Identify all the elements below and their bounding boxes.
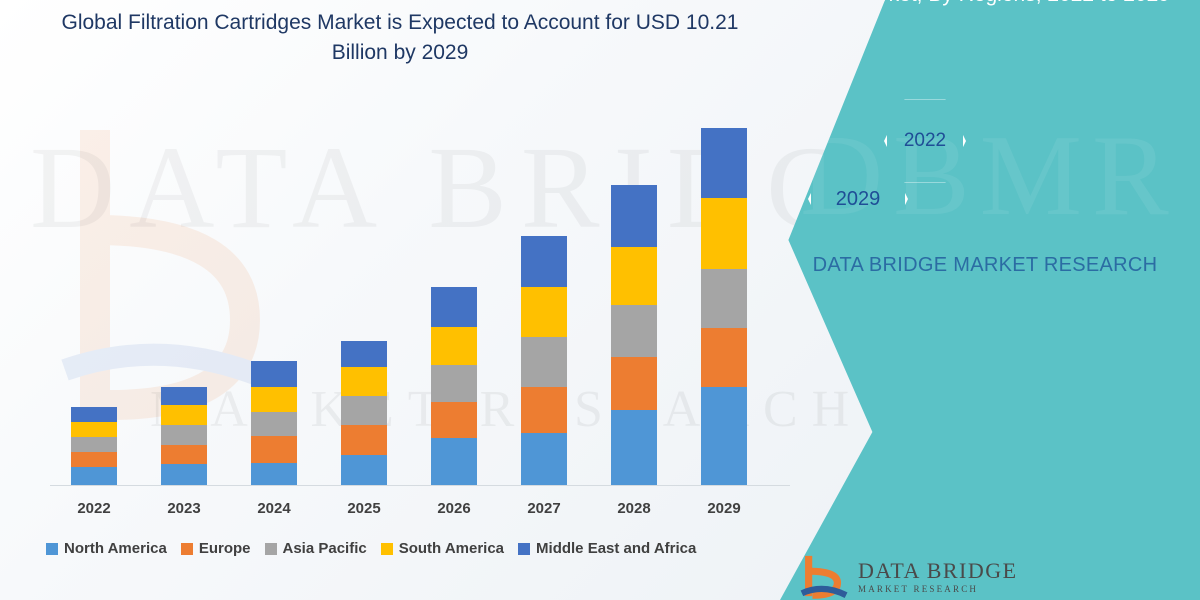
bar-segment-middle-east-and-africa-2026: [431, 287, 477, 327]
x-tick-2022: 2022: [49, 500, 139, 517]
bar-segment-north-america-2028: [611, 410, 657, 485]
bar-segment-europe-2022: [71, 452, 117, 467]
chart-legend: North AmericaEuropeAsia PacificSouth Ame…: [46, 540, 696, 557]
x-tick-2023: 2023: [139, 500, 229, 517]
legend-swatch-icon: [46, 543, 58, 555]
x-tick-2029: 2029: [679, 500, 769, 517]
bar-segment-middle-east-and-africa-2024: [251, 361, 297, 387]
bar-segment-south-america-2028: [611, 247, 657, 305]
bar-2024: [251, 361, 297, 485]
bar-segment-asia-pacific-2023: [161, 425, 207, 445]
legend-item[interactable]: Europe: [181, 540, 251, 557]
bar-segment-middle-east-and-africa-2027: [521, 236, 567, 287]
legend-swatch-icon: [265, 543, 277, 555]
bar-2029: [701, 128, 747, 485]
bar-segment-north-america-2029: [701, 387, 747, 485]
bar-segment-europe-2028: [611, 357, 657, 410]
data-bridge-logo-icon: [800, 552, 848, 600]
bar-segment-south-america-2027: [521, 287, 567, 337]
x-tick-2027: 2027: [499, 500, 589, 517]
bar-segment-south-america-2025: [341, 367, 387, 396]
bar-segment-europe-2023: [161, 445, 207, 465]
logo-wordmark: DATA BRIDGE MARKET RESEARCH: [858, 558, 1018, 594]
legend-swatch-icon: [518, 543, 530, 555]
legend-label: South America: [399, 540, 504, 557]
hexagon-badge-base-year: 2022: [884, 97, 966, 185]
legend-item[interactable]: North America: [46, 540, 167, 557]
chart-panel: DATA BRIDGE MARKET RESEARCH Global Filtr…: [0, 0, 900, 600]
bar-segment-middle-east-and-africa-2025: [341, 341, 387, 367]
bar-segment-asia-pacific-2029: [701, 269, 747, 328]
x-tick-2028: 2028: [589, 500, 679, 517]
bar-segment-south-america-2026: [431, 327, 477, 365]
bar-segment-asia-pacific-2024: [251, 412, 297, 436]
bar-2026: [431, 287, 477, 485]
bar-2025: [341, 341, 387, 485]
bar-segment-asia-pacific-2026: [431, 365, 477, 402]
bar-segment-south-america-2023: [161, 405, 207, 425]
brand-name: DATA BRIDGE MARKET RESEARCH: [800, 250, 1170, 280]
bar-segment-south-america-2022: [71, 422, 117, 437]
legend-item[interactable]: Middle East and Africa: [518, 540, 696, 557]
bar-segment-asia-pacific-2028: [611, 305, 657, 357]
bar-2027: [521, 236, 567, 485]
hexagon-badge-end-year: 2029: [808, 145, 908, 253]
bar-segment-north-america-2026: [431, 438, 477, 485]
legend-label: Middle East and Africa: [536, 540, 696, 557]
bar-segment-north-america-2027: [521, 433, 567, 485]
bar-segment-north-america-2023: [161, 464, 207, 485]
legend-swatch-icon: [381, 543, 393, 555]
bar-segment-north-america-2024: [251, 463, 297, 485]
bar-segment-europe-2029: [701, 328, 747, 387]
bar-segment-middle-east-and-africa-2022: [71, 407, 117, 422]
bar-segment-middle-east-and-africa-2023: [161, 387, 207, 405]
axis-baseline: [50, 485, 790, 486]
bar-segment-north-america-2025: [341, 455, 387, 485]
bar-segment-asia-pacific-2027: [521, 337, 567, 387]
bar-segment-europe-2026: [431, 402, 477, 438]
x-tick-2024: 2024: [229, 500, 319, 517]
footer-logo: DATA BRIDGE MARKET RESEARCH: [800, 552, 1018, 600]
bar-2023: [161, 387, 207, 485]
bar-segment-asia-pacific-2025: [341, 396, 387, 425]
legend-swatch-icon: [181, 543, 193, 555]
stacked-bar-chart: 20222023202420252026202720282029: [0, 0, 900, 600]
bar-segment-asia-pacific-2022: [71, 437, 117, 452]
legend-item[interactable]: South America: [381, 540, 504, 557]
x-tick-2025: 2025: [319, 500, 409, 517]
legend-item[interactable]: Asia Pacific: [265, 540, 367, 557]
bar-2028: [611, 185, 657, 485]
bar-segment-europe-2024: [251, 436, 297, 463]
logo-line-1: DATA BRIDGE: [858, 558, 1018, 584]
legend-label: Europe: [199, 540, 251, 557]
x-tick-2026: 2026: [409, 500, 499, 517]
legend-label: North America: [64, 540, 167, 557]
bar-segment-south-america-2024: [251, 387, 297, 412]
legend-label: Asia Pacific: [283, 540, 367, 557]
bar-2022: [71, 407, 117, 485]
bar-segment-europe-2027: [521, 387, 567, 433]
bar-segment-middle-east-and-africa-2029: [701, 128, 747, 197]
logo-line-2: MARKET RESEARCH: [858, 584, 1018, 594]
bar-segment-north-america-2022: [71, 467, 117, 485]
bar-segment-middle-east-and-africa-2028: [611, 185, 657, 247]
bar-segment-europe-2025: [341, 425, 387, 455]
bar-segment-south-america-2029: [701, 198, 747, 269]
